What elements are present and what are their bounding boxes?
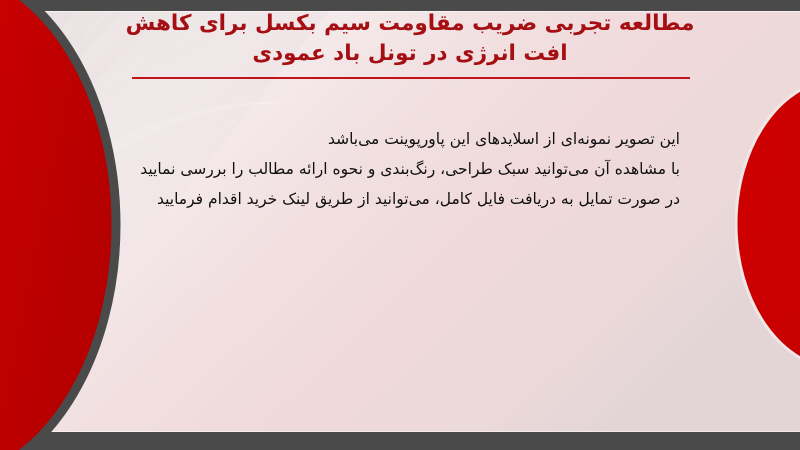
body-line-1: این تصویر نمونه‌ای از اسلایدهای این پاور… [120,124,680,154]
slide-body-text: این تصویر نمونه‌ای از اسلایدهای این پاور… [120,124,680,214]
title-underline-rule [132,77,690,79]
slide-title-line-1: مطالعه تجربی ضریب مقاومت سیم بکسل برای ک… [120,9,700,39]
slide-title: مطالعه تجربی ضریب مقاومت سیم بکسل برای ک… [120,9,700,69]
left-red-ellipse [0,0,130,450]
body-line-3: در صورت تمایل به دریافت فایل کامل، می‌تو… [120,184,680,214]
slide-title-line-2: افت انرژی در تونل باد عمودی [120,39,700,69]
slide-canvas: مطالعه تجربی ضریب مقاومت سیم بکسل برای ک… [0,0,800,450]
right-red-ellipse [735,78,800,370]
body-line-2: با مشاهده آن می‌توانید سبک طراحی، رنگ‌بن… [120,154,680,184]
